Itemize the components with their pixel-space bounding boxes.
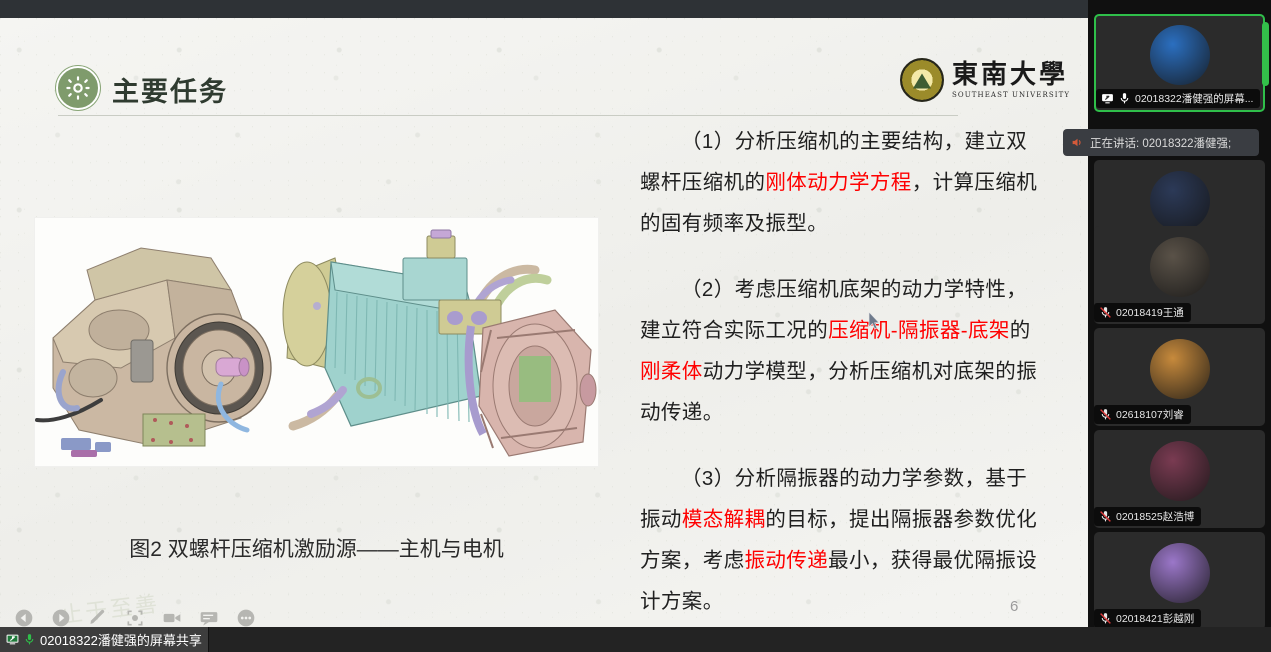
avatar: [1150, 441, 1210, 501]
avatar: [1150, 25, 1210, 85]
university-logo: 東南大學 SOUTHEAST UNIVERSITY: [900, 58, 1070, 102]
screen-share-icon: [6, 633, 19, 646]
participant-tile[interactable]: 02018419王通: [1094, 226, 1265, 324]
seal-icon: [900, 58, 944, 102]
previous-slide-icon[interactable]: [14, 608, 34, 627]
highlighted-term: 振动传递: [745, 549, 829, 572]
screen: 主要任务 東南大學 SOUTHEAST UNIVERSITY: [0, 0, 1271, 652]
avatar: [1150, 171, 1210, 231]
participant-name: 02018322潘健强的屏幕...: [1135, 91, 1253, 106]
top-strip: [0, 0, 1088, 18]
microphone-muted-icon: [1099, 612, 1112, 625]
participant-name: 02618107刘睿: [1116, 407, 1184, 422]
task-paragraph-3: （3）分析隔振器的动力学参数，基于振动模态解耦的目标，提出隔振器参数优化方案，考…: [640, 458, 1040, 622]
participant-namebar: 02018419王通: [1094, 303, 1191, 322]
microphone-icon: [23, 633, 36, 646]
highlighted-term: 压缩机-隔振器-底架: [828, 319, 1010, 342]
mouse-cursor: [868, 312, 880, 330]
participant-namebar: 02018322潘健强的屏幕...: [1096, 89, 1260, 108]
task-paragraph-2: （2）考虑压缩机底架的动力学特性，建立符合实际工况的压缩机-隔振器-底架的刚柔体…: [640, 269, 1040, 433]
gear-icon: [56, 66, 100, 110]
participant-name: 02018525赵浩博: [1116, 509, 1194, 524]
pen-icon[interactable]: [88, 608, 108, 627]
highlighted-term: 模态解耦: [682, 508, 766, 531]
logo-chinese-name: 東南大學: [952, 62, 1070, 88]
logo-english-name: SOUTHEAST UNIVERSITY: [952, 91, 1070, 99]
rail-scrollbar-thumb[interactable]: [1262, 22, 1269, 86]
participant-name: 02018421彭越刚: [1116, 611, 1194, 626]
header-divider: [58, 115, 958, 116]
speaking-tooltip: 正在讲话: 02018322潘健强;: [1063, 129, 1259, 156]
microphone-muted-icon: [1099, 510, 1112, 523]
participant-namebar: 02018421彭越刚: [1094, 609, 1201, 628]
speaking-icon: [1071, 136, 1084, 149]
avatar: [1150, 339, 1210, 399]
presentation-toolbar[interactable]: [14, 608, 256, 627]
task-paragraph-1: （1）分析压缩机的主要结构，建立双螺杆压缩机的刚体动力学方程，计算压缩机的固有频…: [640, 121, 1040, 244]
participant-name: 02018419王通: [1116, 305, 1184, 320]
rail-scrollbar-track[interactable]: [1262, 14, 1269, 632]
comment-icon[interactable]: [199, 608, 219, 627]
body-text-run: 的: [1010, 319, 1031, 342]
figure-caption: 图2 双螺杆压缩机激励源——主机与电机: [34, 533, 599, 563]
avatar: [1150, 543, 1210, 603]
page-title: 主要任务: [112, 70, 228, 109]
windows-taskbar[interactable]: 02018322潘健强的屏幕共享: [0, 627, 1271, 652]
participant-tile[interactable]: 02018322潘健强的屏幕...: [1094, 14, 1265, 112]
taskbar-share-button[interactable]: 02018322潘健强的屏幕共享: [0, 627, 209, 652]
avatar: [1150, 237, 1210, 297]
highlighted-term: 刚体动力学方程: [765, 171, 911, 194]
microphone-muted-icon: [1099, 408, 1112, 421]
speaking-tooltip-text: 正在讲话: 02018322潘健强;: [1090, 135, 1231, 151]
shared-slide[interactable]: 主要任务 東南大學 SOUTHEAST UNIVERSITY: [0, 18, 1088, 627]
taskbar-button-label: 02018322潘健强的屏幕共享: [40, 630, 202, 649]
next-slide-icon[interactable]: [51, 608, 71, 627]
microphone-icon: [1118, 92, 1131, 105]
slide-number: 6: [1010, 598, 1018, 615]
compressor-figure: [34, 217, 599, 467]
participant-tile[interactable]: 02018421彭越刚: [1094, 532, 1265, 630]
participant-tile[interactable]: 02618107刘睿: [1094, 328, 1265, 426]
zoom-icon[interactable]: [125, 608, 145, 627]
slide-body-text: （1）分析压缩机的主要结构，建立双螺杆压缩机的刚体动力学方程，计算压缩机的固有频…: [640, 121, 1040, 627]
participant-namebar: 02618107刘睿: [1094, 405, 1191, 424]
highlighted-term: 刚柔体: [640, 360, 703, 383]
microphone-muted-icon: [1099, 306, 1112, 319]
participant-rail[interactable]: 02018322潘健强的屏幕...02018504于芊楠02018419王通02…: [1088, 0, 1271, 652]
more-options-icon[interactable]: [236, 608, 256, 627]
participant-tile[interactable]: 02018525赵浩博: [1094, 430, 1265, 528]
video-icon[interactable]: [162, 608, 182, 627]
screen-share-icon: [1101, 92, 1114, 105]
participant-namebar: 02018525赵浩博: [1094, 507, 1201, 526]
